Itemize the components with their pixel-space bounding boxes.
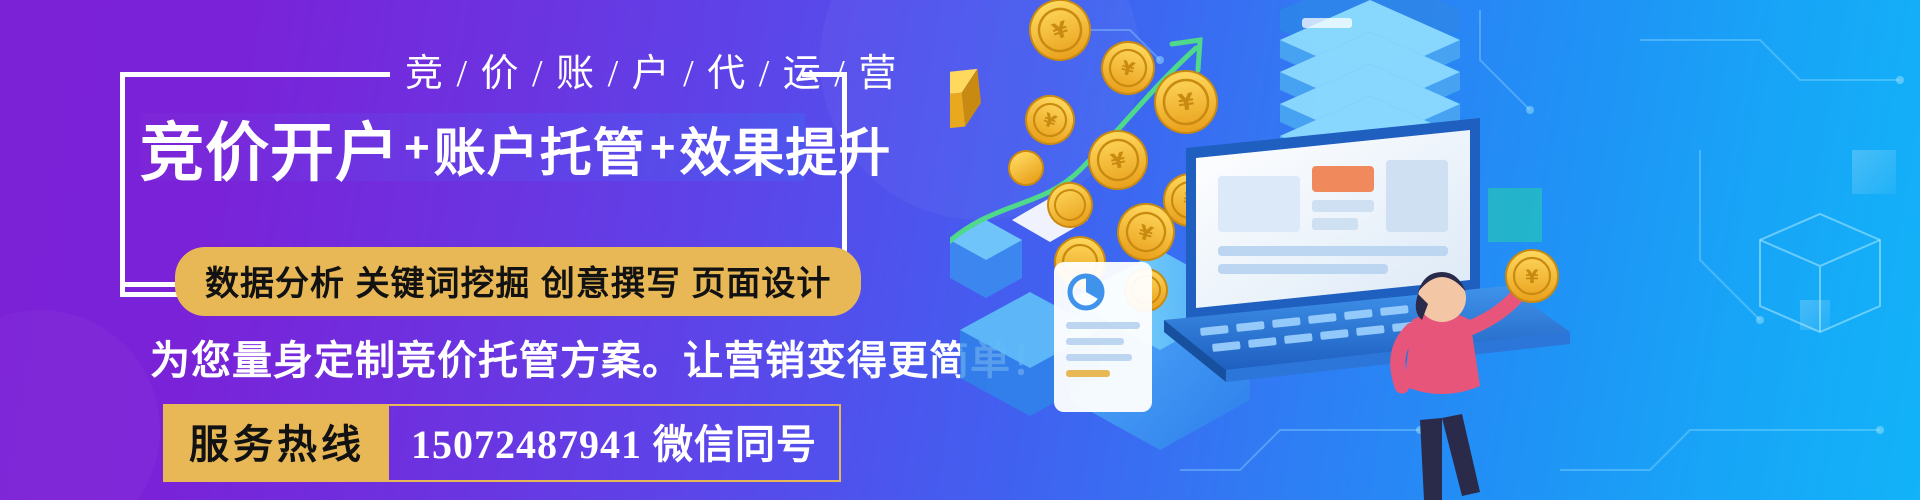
subtitle: 为您量身定制竞价托管方案。让营销变得更简单！	[150, 328, 1052, 386]
headline-plus-2: +	[646, 123, 680, 173]
hotline-label: 服务热线	[165, 406, 389, 480]
svg-text:¥: ¥	[1525, 266, 1538, 288]
laptop	[1164, 118, 1570, 382]
hotline-number[interactable]: 15072487941 微信同号	[389, 406, 839, 480]
gold-bar	[950, 69, 983, 134]
headline: 竞价开户 + 账户托管 + 效果提升	[140, 108, 860, 188]
illustration: ¥ ¥ ¥ ¥	[950, 0, 1920, 500]
services-pill: 数据分析 关键词挖掘 创意撰写 页面设计	[175, 247, 861, 316]
tagline: 竞 / 价 / 账 / 户 / 代 / 运 / 营	[405, 42, 898, 97]
headline-plus-1: +	[400, 123, 434, 173]
hotline-bar[interactable]: 服务热线 15072487941 微信同号	[163, 404, 841, 482]
headline-part-1: 竞价开户	[140, 102, 400, 194]
bracket-top-rule	[125, 72, 390, 77]
text-block: 竞 / 价 / 账 / 户 / 代 / 运 / 营 竞价开户 + 账户托管 + …	[0, 0, 1000, 500]
mobile-device	[1054, 262, 1152, 412]
headline-part-3: 效果提升	[679, 111, 891, 186]
promo-banner: 竞 / 价 / 账 / 户 / 代 / 运 / 营 竞价开户 + 账户托管 + …	[0, 0, 1920, 500]
headline-part-2: 账户托管	[434, 111, 646, 186]
